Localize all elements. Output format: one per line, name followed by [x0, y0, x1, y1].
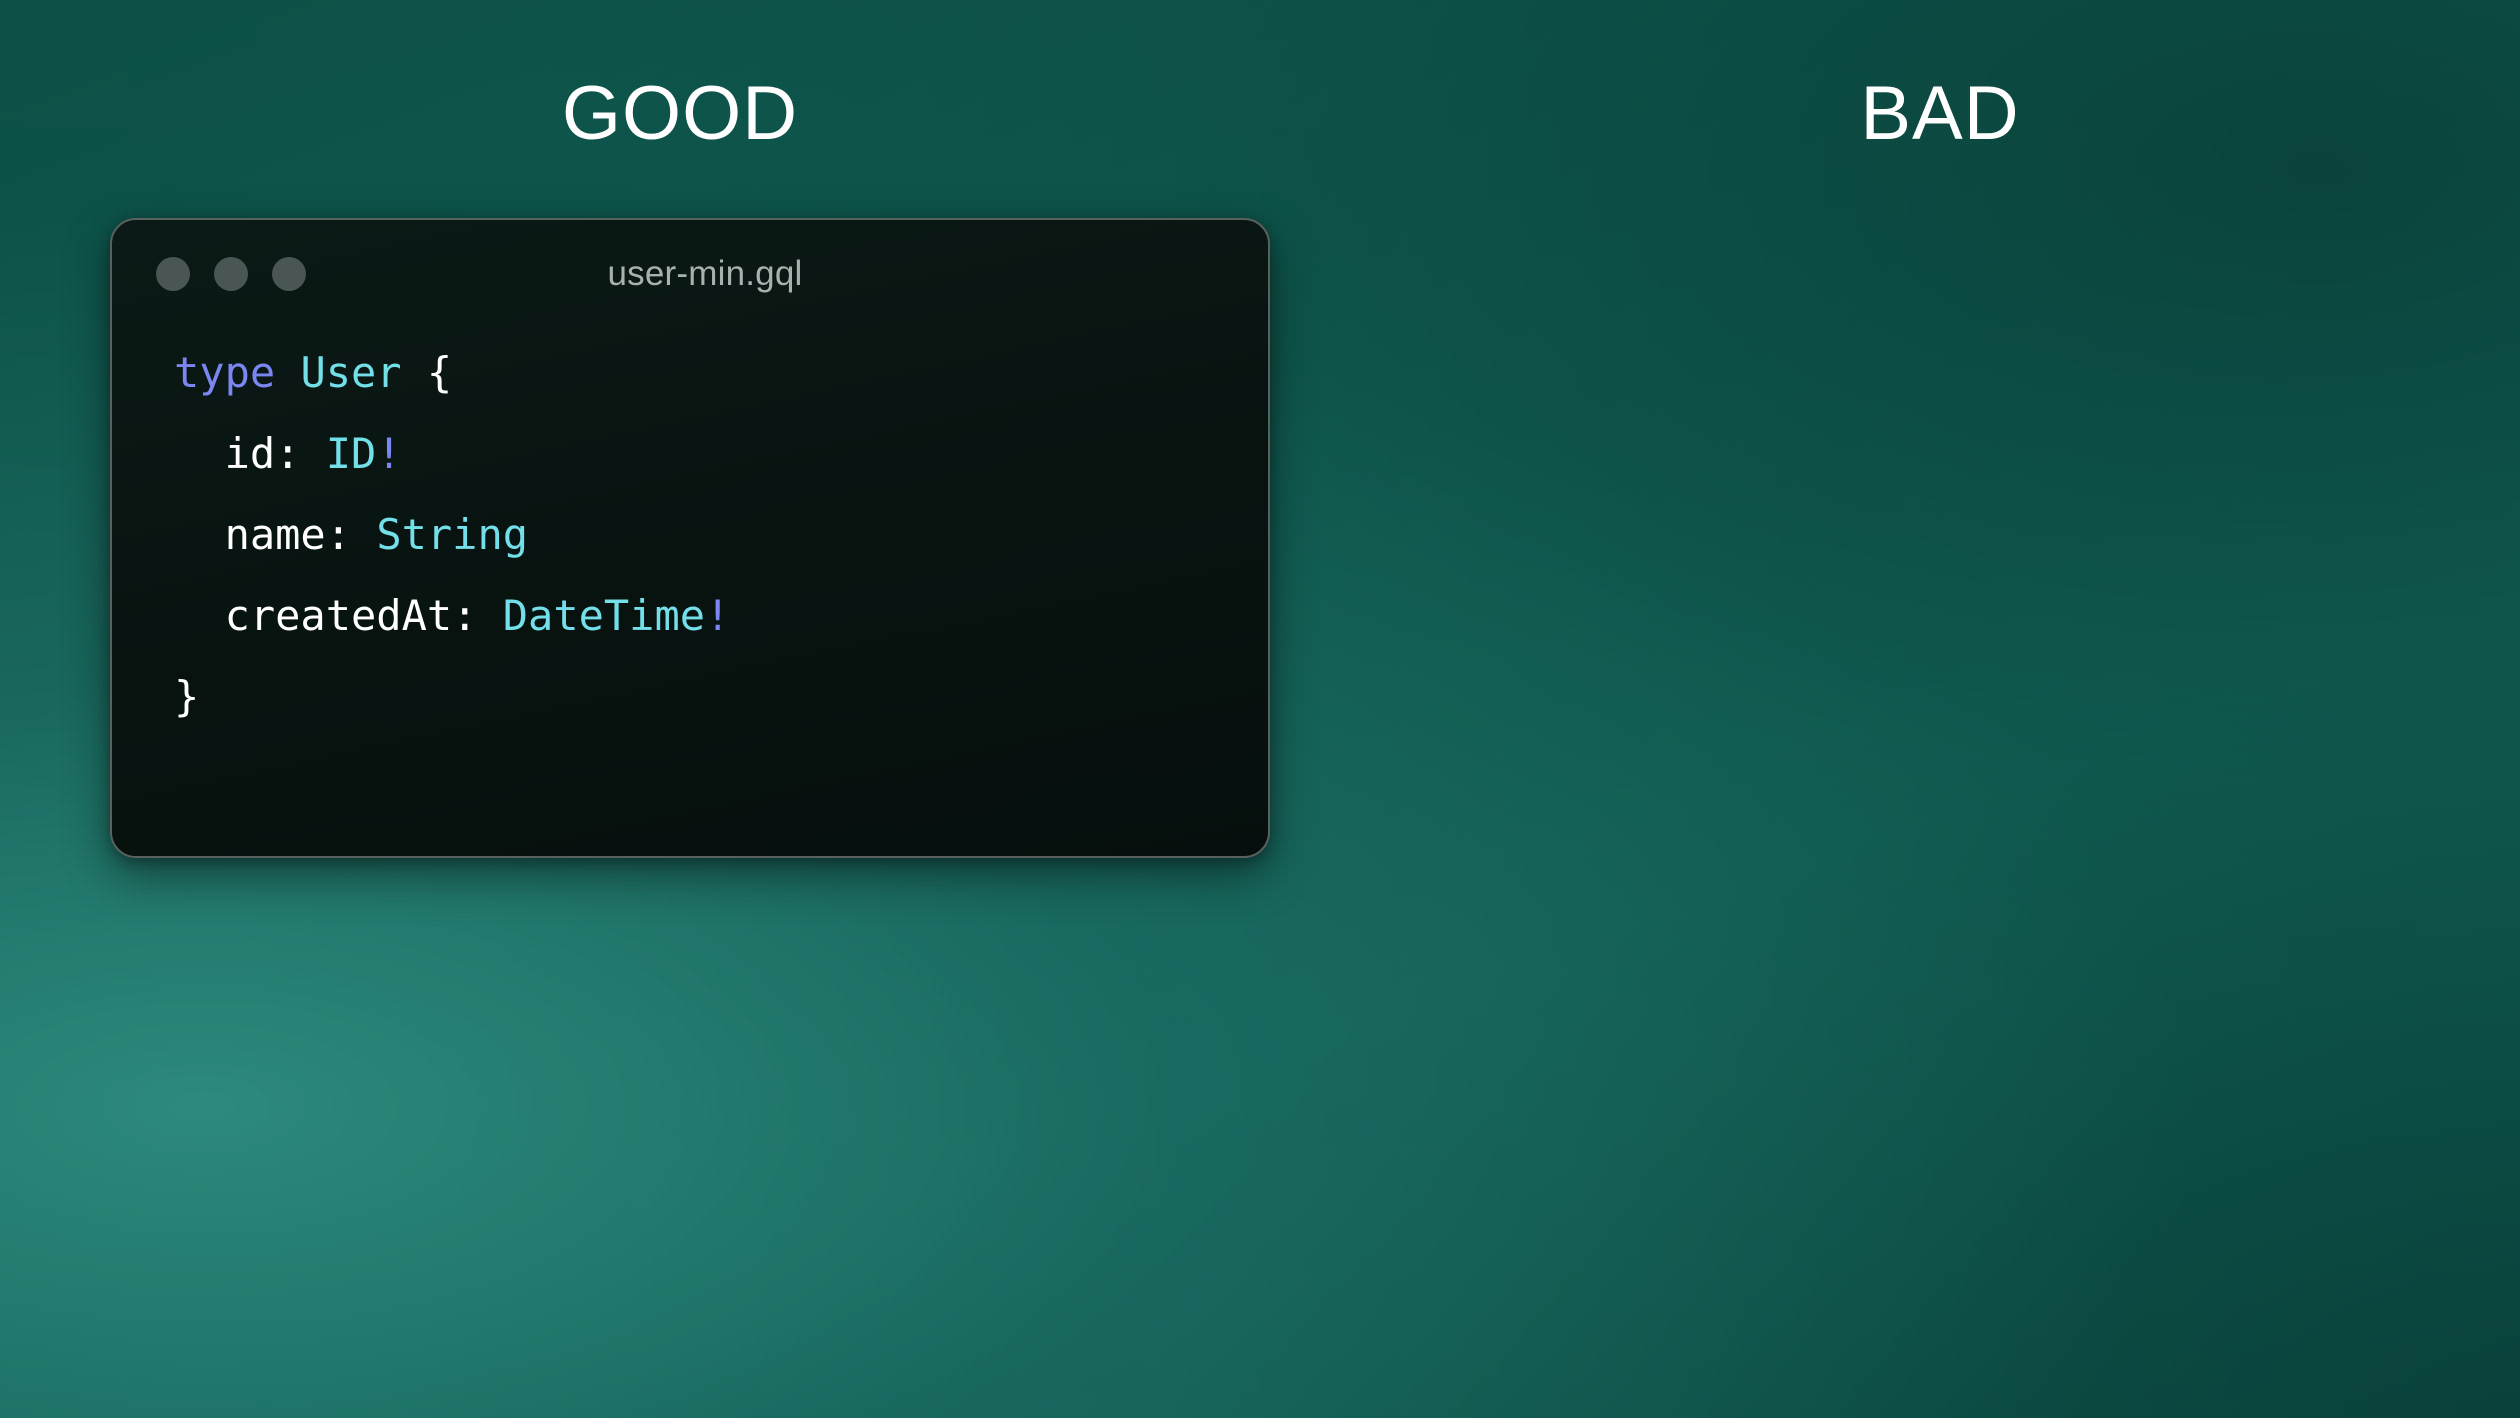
code-line: } [174, 656, 1268, 737]
code-window-good[interactable]: user-min.gql type User { id: ID! name: S… [110, 218, 1270, 858]
code-token-plain [275, 348, 300, 397]
comparison-stage: GOOD user-min.gql type User { id: ID! na… [0, 0, 2520, 1418]
code-token-type: User [300, 348, 401, 397]
code-window-titlebar-good: user-min.gql [112, 220, 1268, 328]
code-line: id: ID! [174, 413, 1268, 494]
code-token-type: ID [326, 429, 377, 478]
code-token-field: createdAt: [225, 591, 478, 640]
panel-heading-good: GOOD [0, 76, 1360, 152]
code-token-plain [402, 348, 427, 397]
code-token-kw: type [174, 348, 275, 397]
code-token-type: DateTime [503, 591, 705, 640]
code-token-type: String [376, 510, 528, 559]
code-token-field: id: [225, 429, 301, 478]
code-token-plain [351, 510, 376, 559]
code-token-field: name: [225, 510, 351, 559]
code-window-filename-good: user-min.gql [112, 254, 1268, 294]
code-token-bang: ! [376, 429, 401, 478]
code-token-plain [477, 591, 502, 640]
panel-heading-bad: BAD [1360, 76, 2520, 152]
code-block-good[interactable]: type User { id: ID! name: String created… [112, 328, 1268, 737]
code-token-bang: ! [705, 591, 730, 640]
code-token-punct: { [427, 348, 452, 397]
code-line: type User { [174, 332, 1268, 413]
code-line: name: String [174, 494, 1268, 575]
code-token-plain [300, 429, 325, 478]
code-token-punct: } [174, 672, 199, 721]
code-line: createdAt: DateTime! [174, 575, 1268, 656]
